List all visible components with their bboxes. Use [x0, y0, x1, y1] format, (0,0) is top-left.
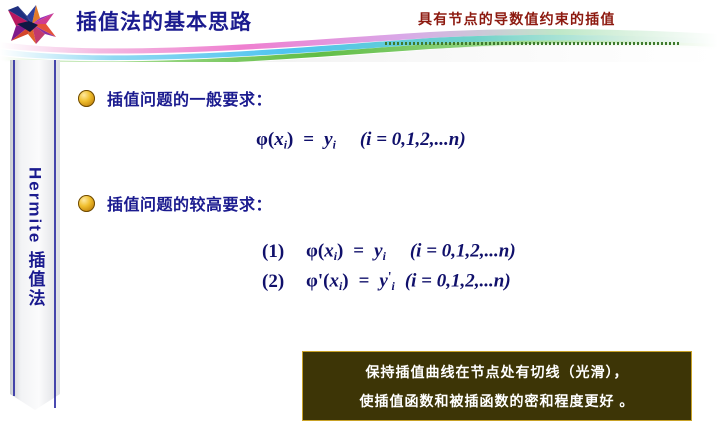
gold-sphere-bullet-icon	[78, 195, 95, 212]
formula-condition-1: (1)φ(xi)=yi(i = 0,1,2,...n)	[262, 239, 516, 264]
formula-number: (2)	[262, 271, 296, 293]
header-subtitle: 具有节点的导数值约束的插值	[418, 9, 616, 29]
slide-canvas: 插值法的基本思路 具有节点的导数值约束的插值 Hermite 插值法 插值问题的…	[0, 0, 718, 426]
starburst-logo-icon	[6, 2, 58, 46]
formula-rhs-variable: y	[374, 241, 382, 262]
formula-number: (1)	[262, 241, 296, 263]
formula-condition: (i = 0,1,2,...n)	[405, 271, 511, 292]
formula-condition: (i = 0,1,2,...n)	[360, 129, 466, 150]
sidebar-title-label: Hermite 插值法	[8, 58, 62, 418]
formula-variable: x	[274, 129, 284, 150]
formula-fn: φ	[306, 241, 318, 262]
formula-equals: =	[359, 271, 370, 292]
formula-rhs-subscript: i	[333, 138, 336, 151]
formula-variable: x	[329, 271, 339, 292]
formula-fn: φ	[306, 271, 318, 292]
page-title: 插值法的基本思路	[76, 6, 252, 36]
formula-equals: =	[353, 241, 364, 262]
formula-variable: x	[324, 241, 334, 262]
bullet-label: 插值问题的较高要求：	[107, 191, 272, 215]
conclusion-callout-box: 保持插值曲线在节点处有切线（光滑）， 使插值函数和被插函数的密和程度更好 。	[302, 351, 692, 421]
conclusion-line-2: 使插值函数和被插函数的密和程度更好 。	[360, 391, 635, 411]
formula-fn: φ	[256, 129, 268, 150]
formula-close-paren: )	[337, 241, 343, 262]
formula-rhs-variable: y	[379, 271, 387, 292]
formula-close-paren: )	[287, 129, 293, 150]
formula-rhs-variable: y	[324, 129, 332, 150]
formula-rhs-subscript: i	[383, 250, 386, 263]
gold-sphere-bullet-icon	[78, 90, 95, 107]
slide-header: 插值法的基本思路 具有节点的导数值约束的插值	[0, 0, 718, 58]
sidebar-ribbon: Hermite 插值法	[8, 58, 62, 418]
formula-condition: (i = 0,1,2,...n)	[410, 241, 516, 262]
formula-rhs-subscript: i	[392, 280, 395, 293]
list-item: 插值问题的一般要求：	[78, 86, 272, 110]
formula-close-paren: )	[342, 271, 348, 292]
formula-condition-2: (2)φ'(xi)=y'i(i = 0,1,2,...n)	[262, 269, 511, 294]
list-item: 插值问题的较高要求：	[78, 191, 272, 215]
formula-equals: =	[303, 129, 314, 150]
dotted-rule-divider	[385, 42, 679, 45]
conclusion-line-1: 保持插值曲线在节点处有切线（光滑），	[366, 362, 629, 382]
formula-general-requirement: φ(xi)=yi(i = 0,1,2,...n)	[256, 129, 466, 152]
bullet-label: 插值问题的一般要求：	[107, 86, 272, 110]
